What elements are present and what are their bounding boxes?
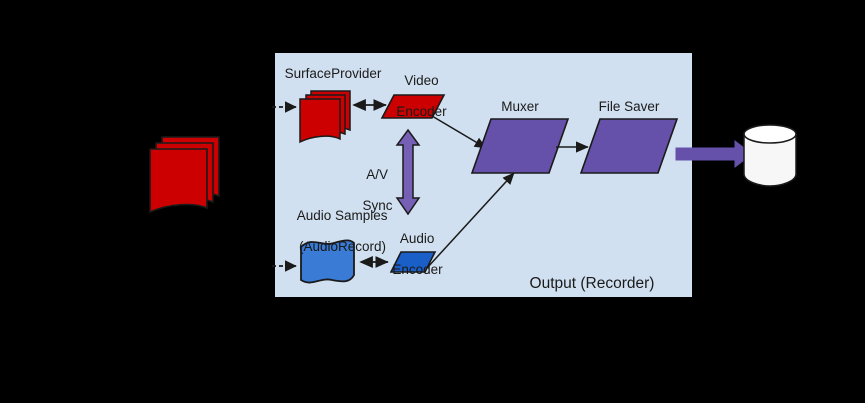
source-frames-stack [150,137,219,212]
surface-provider-label: SurfaceProvider [281,66,385,82]
diagram-canvas: SurfaceProvider Video Encoder A/V Sync A… [0,0,865,403]
output-recorder-title: Output (Recorder) [508,275,676,293]
audio-samples-label-line2: (AudioRecord) [299,239,386,254]
video-encoder-label: Video Encoder [377,57,451,135]
audio-encoder-label-line2: Encoder [392,262,442,277]
audio-encoder-label-line1: Audio [400,231,435,246]
storage-cylinder [744,125,796,186]
file-saver-label: File Saver [592,99,666,115]
video-encoder-label-line1: Video [404,73,438,88]
av-sync-label-line1: A/V [366,167,388,182]
muxer-label: Muxer [489,99,551,115]
video-encoder-label-line2: Encoder [396,104,446,119]
audio-encoder-label: Audio Encoder [374,215,446,293]
